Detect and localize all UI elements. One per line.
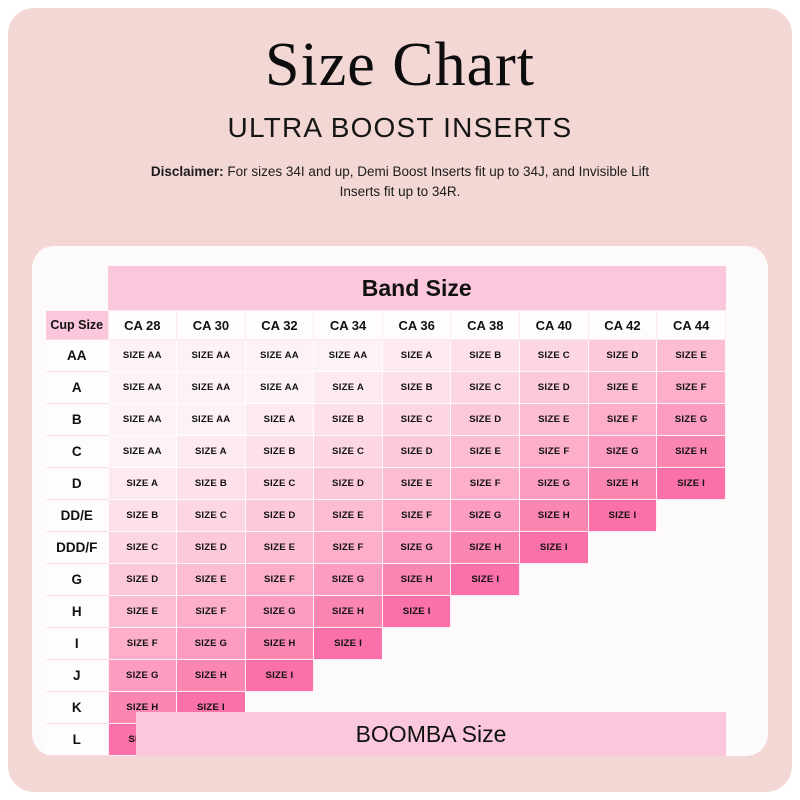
band-size-header-cell: CA 42 (588, 311, 657, 340)
size-cell-empty (657, 532, 726, 564)
size-cell: SIZE F (520, 436, 589, 468)
size-cell: SIZE F (314, 532, 383, 564)
size-cell: SIZE AA (108, 372, 177, 404)
table-head: Band Size Cup SizeCA 28CA 30CA 32CA 34CA… (46, 266, 726, 340)
table-row: JSIZE GSIZE HSIZE I (46, 660, 726, 692)
size-cell-empty (588, 564, 657, 596)
band-size-header-cell: CA 38 (451, 311, 520, 340)
size-cell: SIZE AA (108, 404, 177, 436)
size-cell: SIZE I (314, 628, 383, 660)
size-cell-empty (657, 500, 726, 532)
size-cell: SIZE D (382, 436, 451, 468)
size-cell: SIZE A (245, 404, 314, 436)
band-size-header-cell: CA 44 (657, 311, 726, 340)
table-row: ISIZE FSIZE GSIZE HSIZE I (46, 628, 726, 660)
cup-size-cell: A (46, 372, 108, 404)
size-cell: SIZE F (451, 468, 520, 500)
size-cell: SIZE E (520, 404, 589, 436)
size-cell: SIZE C (108, 532, 177, 564)
size-cell: SIZE A (177, 436, 246, 468)
size-cell: SIZE B (314, 404, 383, 436)
size-cell-empty (520, 596, 589, 628)
size-cell: SIZE B (382, 372, 451, 404)
size-cell: SIZE C (520, 340, 589, 372)
size-cell: SIZE I (588, 500, 657, 532)
size-cell-empty (451, 596, 520, 628)
table-row: AASIZE AASIZE AASIZE AASIZE AASIZE ASIZE… (46, 340, 726, 372)
size-cell: SIZE H (451, 532, 520, 564)
band-size-header-cell: CA 36 (382, 311, 451, 340)
size-cell: SIZE E (382, 468, 451, 500)
size-cell-empty (520, 660, 589, 692)
size-cell: SIZE I (520, 532, 589, 564)
cup-size-cell: DDD/F (46, 532, 108, 564)
size-cell-empty (657, 596, 726, 628)
table-row: DDD/FSIZE CSIZE DSIZE ESIZE FSIZE GSIZE … (46, 532, 726, 564)
cup-size-cell: J (46, 660, 108, 692)
boomba-size-footer: BOOMBA Size (136, 712, 726, 756)
table-row: ASIZE AASIZE AASIZE AASIZE ASIZE BSIZE C… (46, 372, 726, 404)
size-cell: SIZE AA (177, 340, 246, 372)
size-cell: SIZE A (382, 340, 451, 372)
size-cell: SIZE E (657, 340, 726, 372)
size-cell: SIZE A (314, 372, 383, 404)
size-cell: SIZE G (108, 660, 177, 692)
size-cell: SIZE H (588, 468, 657, 500)
size-cell: SIZE AA (108, 436, 177, 468)
size-cell: SIZE H (520, 500, 589, 532)
size-cell: SIZE D (108, 564, 177, 596)
cup-size-cell: G (46, 564, 108, 596)
size-cell-empty (588, 628, 657, 660)
size-cell: SIZE G (314, 564, 383, 596)
size-cell: SIZE B (451, 340, 520, 372)
size-cell: SIZE G (451, 500, 520, 532)
size-cell: SIZE F (245, 564, 314, 596)
size-cell: SIZE C (314, 436, 383, 468)
table-row: DD/ESIZE BSIZE CSIZE DSIZE ESIZE FSIZE G… (46, 500, 726, 532)
band-size-title: Band Size (108, 266, 726, 311)
band-size-header-cell: CA 28 (108, 311, 177, 340)
size-cell: SIZE A (108, 468, 177, 500)
band-size-header-cell: CA 30 (177, 311, 246, 340)
table-row: BSIZE AASIZE AASIZE ASIZE BSIZE CSIZE DS… (46, 404, 726, 436)
size-cell: SIZE F (382, 500, 451, 532)
size-cell: SIZE I (657, 468, 726, 500)
band-title-row: Band Size (46, 266, 726, 311)
size-chart-card: Band Size Cup SizeCA 28CA 30CA 32CA 34CA… (32, 246, 768, 756)
size-cell: SIZE G (520, 468, 589, 500)
size-cell: SIZE E (108, 596, 177, 628)
size-cell: SIZE G (657, 404, 726, 436)
size-cell-empty (520, 564, 589, 596)
size-cell: SIZE D (177, 532, 246, 564)
size-cell: SIZE E (177, 564, 246, 596)
size-cell: SIZE H (245, 628, 314, 660)
size-cell: SIZE AA (108, 340, 177, 372)
size-cell: SIZE AA (177, 372, 246, 404)
size-cell-empty (657, 660, 726, 692)
size-cell: SIZE AA (245, 340, 314, 372)
size-cell: SIZE D (314, 468, 383, 500)
size-cell: SIZE C (177, 500, 246, 532)
size-table-container: Band Size Cup SizeCA 28CA 30CA 32CA 34CA… (32, 246, 768, 756)
size-cell: SIZE I (245, 660, 314, 692)
size-cell-empty (588, 660, 657, 692)
size-cell: SIZE F (588, 404, 657, 436)
disclaimer-label: Disclaimer: (151, 164, 224, 179)
cup-size-cell: AA (46, 340, 108, 372)
cup-size-cell: D (46, 468, 108, 500)
cup-size-cell: K (46, 692, 108, 724)
cup-size-cell: B (46, 404, 108, 436)
size-cell-empty (657, 564, 726, 596)
page-subtitle: ULTRA BOOST INSERTS (8, 112, 792, 144)
size-cell: SIZE D (588, 340, 657, 372)
size-cell: SIZE D (245, 500, 314, 532)
size-cell: SIZE B (108, 500, 177, 532)
size-cell: SIZE F (657, 372, 726, 404)
size-cell: SIZE E (245, 532, 314, 564)
band-size-header-row: Cup SizeCA 28CA 30CA 32CA 34CA 36CA 38CA… (46, 311, 726, 340)
size-cell-empty (451, 660, 520, 692)
size-cell: SIZE C (245, 468, 314, 500)
size-cell: SIZE E (588, 372, 657, 404)
cup-size-cell: C (46, 436, 108, 468)
corner-blank-cell (46, 266, 108, 311)
size-cell: SIZE C (382, 404, 451, 436)
size-cell-empty (382, 628, 451, 660)
cup-size-header: Cup Size (46, 311, 108, 340)
size-table: Band Size Cup SizeCA 28CA 30CA 32CA 34CA… (46, 266, 726, 756)
disclaimer-body: For sizes 34I and up, Demi Boost Inserts… (224, 164, 649, 199)
size-cell: SIZE I (382, 596, 451, 628)
table-row: DSIZE ASIZE BSIZE CSIZE DSIZE ESIZE FSIZ… (46, 468, 726, 500)
size-cell: SIZE F (177, 596, 246, 628)
size-cell-empty (382, 660, 451, 692)
size-cell: SIZE F (108, 628, 177, 660)
size-cell: SIZE G (382, 532, 451, 564)
page-title: Size Chart (8, 34, 792, 96)
size-cell: SIZE AA (177, 404, 246, 436)
size-cell: SIZE H (657, 436, 726, 468)
size-cell: SIZE G (588, 436, 657, 468)
band-size-header-cell: CA 34 (314, 311, 383, 340)
size-cell-empty (588, 596, 657, 628)
size-cell: SIZE H (382, 564, 451, 596)
size-cell: SIZE I (451, 564, 520, 596)
chart-header: Size Chart ULTRA BOOST INSERTS Disclaime… (8, 8, 792, 203)
size-cell: SIZE AA (245, 372, 314, 404)
size-cell-empty (314, 660, 383, 692)
size-cell: SIZE B (245, 436, 314, 468)
cup-size-cell: L (46, 724, 108, 756)
band-size-header-cell: CA 40 (520, 311, 589, 340)
size-cell: SIZE E (451, 436, 520, 468)
page-panel: Size Chart ULTRA BOOST INSERTS Disclaime… (8, 8, 792, 792)
size-cell-empty (451, 628, 520, 660)
size-cell: SIZE B (177, 468, 246, 500)
size-cell-empty (657, 628, 726, 660)
disclaimer-text: Disclaimer: For sizes 34I and up, Demi B… (150, 162, 650, 203)
table-row: CSIZE AASIZE ASIZE BSIZE CSIZE DSIZE ESI… (46, 436, 726, 468)
size-cell-empty (588, 532, 657, 564)
cup-size-cell: H (46, 596, 108, 628)
size-cell: SIZE H (177, 660, 246, 692)
table-row: GSIZE DSIZE ESIZE FSIZE GSIZE HSIZE I (46, 564, 726, 596)
size-cell-empty (520, 628, 589, 660)
band-size-header-cell: CA 32 (245, 311, 314, 340)
size-cell: SIZE G (177, 628, 246, 660)
table-body: AASIZE AASIZE AASIZE AASIZE AASIZE ASIZE… (46, 340, 726, 756)
size-cell: SIZE C (451, 372, 520, 404)
size-cell: SIZE H (314, 596, 383, 628)
cup-size-cell: DD/E (46, 500, 108, 532)
size-cell: SIZE D (451, 404, 520, 436)
size-cell: SIZE D (520, 372, 589, 404)
size-cell: SIZE G (245, 596, 314, 628)
table-row: HSIZE ESIZE FSIZE GSIZE HSIZE I (46, 596, 726, 628)
size-cell: SIZE E (314, 500, 383, 532)
cup-size-cell: I (46, 628, 108, 660)
size-cell: SIZE AA (314, 340, 383, 372)
